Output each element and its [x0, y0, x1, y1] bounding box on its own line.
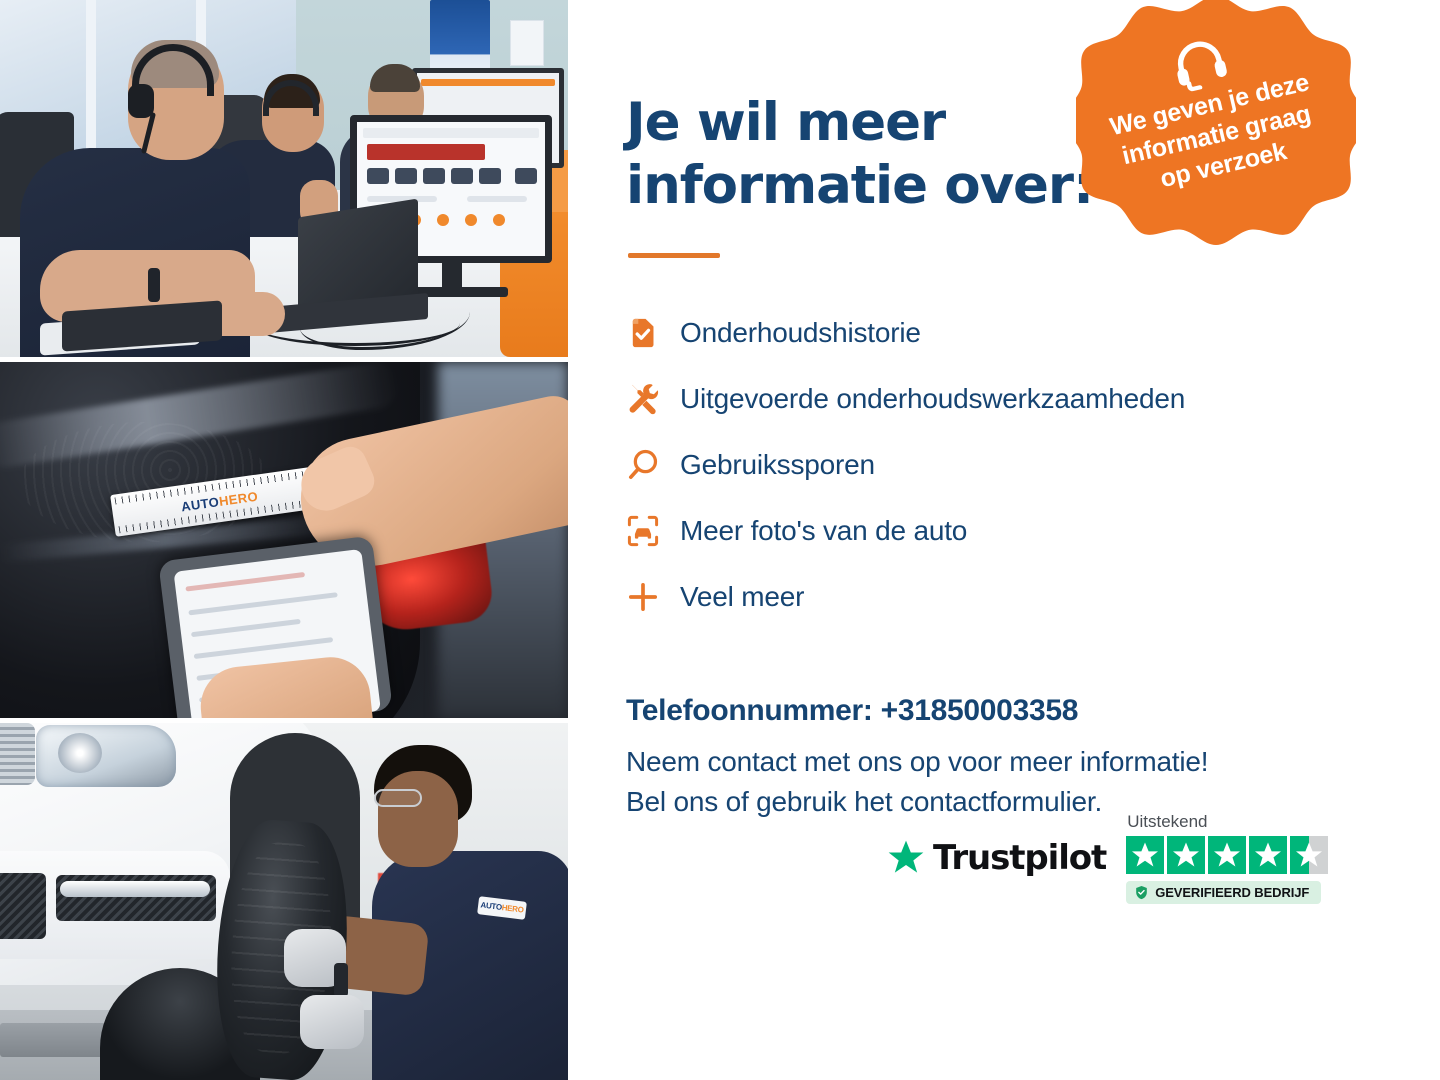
feature-label: Gebruikssporen — [680, 449, 875, 481]
star-icon — [1208, 836, 1246, 874]
promo-page: AUTO AUT — [0, 0, 1440, 1080]
feature-label: Veel meer — [680, 581, 804, 613]
mechanic-wheel-photo: AUTOHERO — [0, 723, 568, 1080]
trustpilot-star-icon — [886, 838, 926, 878]
star-icon — [1167, 836, 1205, 874]
headline-line-1: Je wil meer — [626, 92, 945, 153]
feature-label: Meer foto's van de auto — [680, 515, 967, 547]
verified-check-icon — [1134, 885, 1149, 900]
car-frame-icon — [626, 514, 680, 548]
list-item: Meer foto's van de auto — [626, 498, 1384, 564]
trustpilot-rating-label: Uitstekend — [1127, 812, 1207, 832]
photo-column: AUTO AUT — [0, 0, 568, 1080]
star-icon — [1126, 836, 1164, 874]
request-info-badge: We geven je deze informatie graag op ver… — [1076, 0, 1356, 273]
page-title: Je wil meer informatie over: — [626, 92, 1096, 217]
phone-number[interactable]: Telefoonnummer: +31850003358 — [626, 694, 1384, 728]
trustpilot-widget[interactable]: Trustpilot Uitstekend — [886, 812, 1328, 904]
trustpilot-wordmark: Trustpilot — [933, 838, 1106, 878]
list-item: Gebruikssporen — [626, 432, 1384, 498]
list-item: Onderhoudshistorie — [626, 300, 1384, 366]
contact-cta-text: Neem contact met ons op voor meer inform… — [626, 742, 1384, 822]
feature-list: Onderhoudshistorie Uitgevoerde onderhoud… — [626, 300, 1384, 630]
car-inspection-ruler-photo: AUTOHERO — [0, 362, 568, 718]
magnifier-icon — [626, 448, 680, 482]
feature-label: Onderhoudshistorie — [680, 317, 921, 349]
cta-line-1: Neem contact met ons op voor meer inform… — [626, 746, 1208, 777]
verified-company-label: GEVERIFIEERD BEDRIJF — [1155, 885, 1309, 900]
polo-logo-part2: HERO — [501, 903, 524, 915]
trustpilot-stars — [1126, 836, 1328, 874]
headset-icon — [1168, 33, 1231, 90]
trustpilot-rating-block: Uitstekend — [1126, 812, 1328, 904]
plus-icon — [626, 580, 680, 614]
list-item: Uitgevoerde onderhoudswerkzaamheden — [626, 366, 1384, 432]
headline-line-2: informatie over: — [626, 155, 1093, 216]
list-item: Veel meer — [626, 564, 1384, 630]
star-icon — [1249, 836, 1287, 874]
content-panel: Je wil meer informatie over: — [568, 0, 1440, 1080]
verified-company-badge: GEVERIFIEERD BEDRIJF — [1126, 881, 1321, 904]
title-underline-rule — [628, 253, 720, 258]
call-center-agents-photo: AUTO — [0, 0, 568, 357]
trustpilot-logo: Trustpilot — [886, 838, 1106, 878]
polo-logo-part1: AUTO — [480, 900, 502, 912]
ruler-logo-part1: AUTO — [180, 494, 220, 514]
tools-icon — [626, 381, 680, 417]
badge-text: We geven je deze informatie graag op ver… — [1101, 66, 1331, 205]
feature-label: Uitgevoerde onderhoudswerkzaamheden — [680, 383, 1185, 415]
half-star-icon — [1290, 836, 1328, 874]
document-check-icon — [626, 316, 680, 350]
ruler-logo-part2: HERO — [218, 488, 259, 508]
